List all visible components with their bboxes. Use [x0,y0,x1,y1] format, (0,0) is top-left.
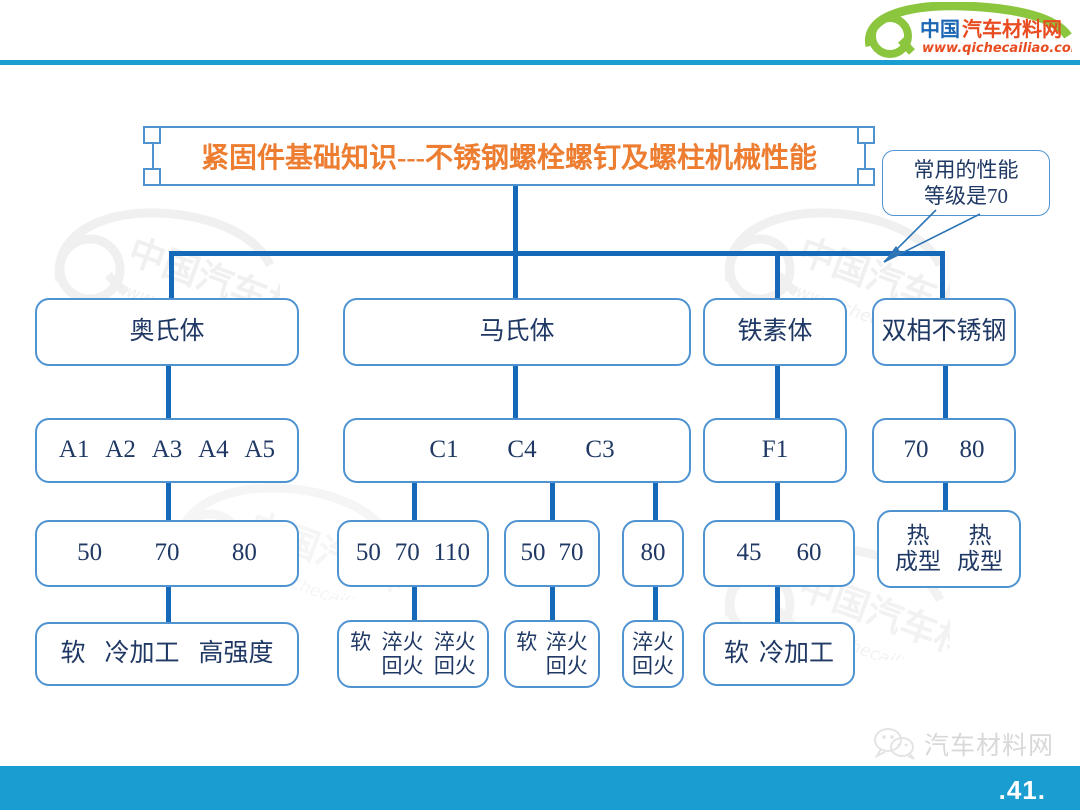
node-category-ferritic[interactable]: 铁素体 [703,298,847,366]
title-corner-br [857,168,875,186]
level-value: 50 [77,539,102,568]
connector-c3-to-levels [653,483,658,520]
connector-drop-austenitic [169,251,174,298]
connector-c3-levels-to-conditions [653,587,658,622]
node-grades-austenitic[interactable]: A1 A2 A3 A4 A5 [35,418,299,483]
condition-value: 冷加工 [759,640,834,669]
condition-value: 软 [516,630,537,654]
grade-value: A5 [244,436,275,465]
diagram-title-box: 紧固件基础知识---不锈钢螺栓螺钉及螺柱机械性能 [152,126,866,186]
condition-value: 高强度 [198,640,273,669]
category-label: 铁素体 [737,318,812,347]
node-grades-ferritic[interactable]: F1 [703,418,847,483]
callout-bubble: 常用的性能 等级是70 [882,150,1050,216]
page-number: .41. [999,775,1046,806]
grade-value: A3 [152,436,183,465]
node-levels-duplex[interactable]: 热 成型 热 成型 [877,510,1021,588]
header-rule [0,60,1080,65]
condition-line-2: 回火 [434,654,476,678]
node-category-austenitic[interactable]: 奥氏体 [35,298,299,366]
grade-value: 70 [904,436,929,465]
title-corner-tl [143,126,161,144]
node-conditions-c4[interactable]: 软 淬火 回火 [504,620,600,688]
connector-ferritic-to-grades [775,366,780,418]
level-value: 80 [232,539,257,568]
node-conditions-austenitic[interactable]: 软 冷加工 高强度 [35,622,299,686]
level-line-2: 成型 [957,549,1003,575]
category-label: 马氏体 [479,318,554,347]
connector-c1-to-levels [412,483,417,520]
condition-line-2: 回火 [546,654,588,678]
connector-c1-levels-to-conditions [412,587,417,622]
node-levels-austenitic[interactable]: 50 70 80 [35,520,299,587]
svg-text:中国: 中国 [920,17,960,41]
node-grades-martensitic[interactable]: C1 C4 C3 [343,418,691,483]
condition-value: 冷加工 [104,640,179,669]
wechat-watermark: 汽车材料网 [873,726,1054,762]
connector-austenitic-grades-to-levels [166,483,171,520]
condition-value: 淬火 回火 [381,630,423,678]
connector-drop-ferritic [775,251,780,298]
condition-line-1: 软 [350,630,371,654]
connector-c4-levels-to-conditions [550,587,555,622]
condition-line-1: 冷加工 [759,640,834,669]
connector-austenitic-levels-to-conditions [166,587,171,622]
wechat-label: 汽车材料网 [924,726,1054,762]
level-value: 70 [154,539,179,568]
connector-drop-martensitic [513,251,518,298]
connector-c4-to-levels [550,483,555,520]
level-value: 45 [737,539,762,568]
grade-value: C3 [585,436,614,465]
level-value: 热 成型 [895,523,941,576]
grade-value: F1 [762,436,788,465]
category-label: 双相不锈钢 [881,318,1006,347]
node-conditions-c1[interactable]: 软 淬火 回火 淬火 回火 [337,620,489,688]
condition-line-1: 冷加工 [104,640,179,669]
callout-line-1: 常用的性能 [914,157,1019,183]
condition-value: 软 [724,640,749,669]
level-value: 50 [356,539,381,568]
svg-text:www.qichecailiao.com: www.qichecailiao.com [922,41,1072,56]
wechat-icon [873,727,917,761]
node-levels-ferritic[interactable]: 45 60 [703,520,855,587]
condition-line-1: 淬火 [632,630,674,654]
connector-main-bus [169,251,945,256]
slide: 中国汽车材料网 www.qichecailiao.com 中国汽车材料网 www… [0,0,1080,810]
footer-bar [0,766,1080,810]
svg-text:汽车材料网: 汽车材料网 [962,17,1062,41]
level-line-2: 成型 [895,549,941,575]
node-levels-c3[interactable]: 80 [622,520,684,587]
grade-value: A2 [105,436,136,465]
condition-line-1: 淬火 [546,630,588,654]
callout-tail-arrow [876,208,986,270]
condition-line-1: 软 [516,630,537,654]
title-corner-tr [857,126,875,144]
condition-value: 软 [350,630,371,654]
grade-value: C1 [429,436,458,465]
level-value: 60 [797,539,822,568]
node-conditions-ferritic[interactable]: 软 冷加工 [703,622,855,686]
level-line-1: 热 [907,523,930,549]
condition-line-1: 高强度 [198,640,273,669]
grade-value: 80 [960,436,985,465]
condition-value: 淬火 回火 [546,630,588,678]
condition-value: 软 [60,640,85,669]
connector-martensitic-to-grades [513,366,518,418]
condition-line-2: 回火 [632,654,674,678]
node-levels-c4[interactable]: 50 70 [504,520,600,587]
condition-line-1: 淬火 [381,630,423,654]
condition-value: 淬火 回火 [434,630,476,678]
connector-ferritic-levels-to-conditions [775,587,780,622]
callout-line-2: 等级是70 [914,183,1019,209]
condition-line-1: 软 [60,640,85,669]
page-title: 紧固件基础知识---不锈钢螺栓螺钉及螺柱机械性能 [201,136,817,176]
level-value: 80 [641,539,666,568]
condition-value: 淬火 回火 [632,630,674,678]
title-corner-bl [143,168,161,186]
connector-austenitic-to-grades [166,366,171,418]
category-label: 奥氏体 [129,318,204,347]
level-line-1: 热 [969,523,992,549]
connector-duplex-to-grades [943,366,948,418]
node-levels-c1[interactable]: 50 70 110 [337,520,489,587]
condition-line-1: 淬火 [434,630,476,654]
connector-root-stem [513,186,518,254]
level-value: 70 [559,539,584,568]
node-category-martensitic[interactable]: 马氏体 [343,298,691,366]
level-value: 50 [521,539,546,568]
level-value: 110 [433,539,470,568]
condition-line-1: 软 [724,640,749,669]
node-category-duplex[interactable]: 双相不锈钢 [872,298,1016,366]
grade-value: A4 [198,436,229,465]
grade-value: A1 [59,436,90,465]
level-value: 70 [395,539,420,568]
node-grades-duplex[interactable]: 70 80 [872,418,1016,483]
node-conditions-c3[interactable]: 淬火 回火 [622,620,684,688]
brand-logo: 中国 汽车材料网 www.qichecailiao.com [860,2,1072,58]
level-value: 热 成型 [957,523,1003,576]
condition-line-2: 回火 [381,654,423,678]
grade-value: C4 [507,436,536,465]
connector-ferritic-grades-to-levels [775,483,780,520]
